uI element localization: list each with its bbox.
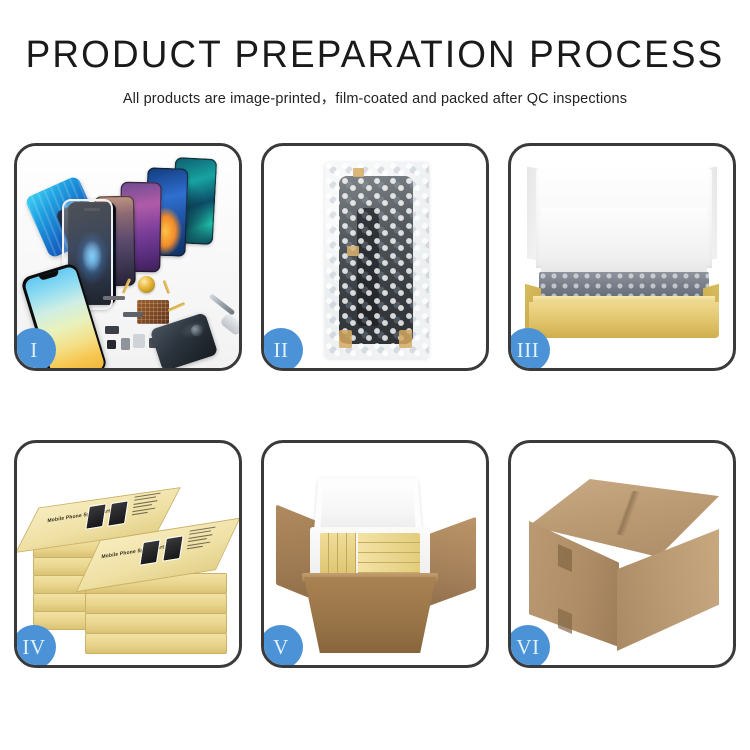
step-badge-5: V	[261, 625, 303, 668]
step-badge-4: IV	[14, 625, 56, 668]
page-subtitle: All products are image-printed，film-coat…	[0, 87, 750, 108]
foam-sheet	[541, 208, 707, 274]
tape-strip	[399, 330, 412, 348]
tape-strip	[347, 246, 359, 256]
process-step-panel-4[interactable]: Mobile Phone Spare Parts Mobile Phone Sp…	[14, 440, 242, 668]
speaker-coil-part	[138, 276, 155, 293]
tape-strip	[339, 330, 352, 348]
process-step-panel-3[interactable]: III	[508, 143, 736, 371]
tape-strip	[353, 168, 364, 177]
spare-parts-cluster	[103, 274, 231, 368]
process-step-panel-6[interactable]: VI	[508, 440, 736, 668]
step-badge-6: VI	[508, 625, 550, 668]
process-step-panel-5[interactable]: V	[261, 440, 489, 668]
bubble-wrap-bag	[325, 162, 429, 358]
page-header: PRODUCT PREPARATION PROCESS All products…	[0, 0, 750, 108]
step-badge-3: III	[508, 328, 550, 371]
step-badge-2: II	[261, 328, 303, 371]
step-badge-1: I	[14, 328, 56, 371]
process-step-panel-2[interactable]: II	[261, 143, 489, 371]
process-step-grid: I II III	[14, 143, 736, 668]
page-title: PRODUCT PREPARATION PROCESS	[11, 36, 739, 76]
yellow-box-front	[529, 302, 719, 338]
process-step-panel-1[interactable]: I	[14, 143, 242, 371]
packed-yellow-boxes	[320, 533, 420, 575]
carton-front-panel	[304, 577, 436, 653]
